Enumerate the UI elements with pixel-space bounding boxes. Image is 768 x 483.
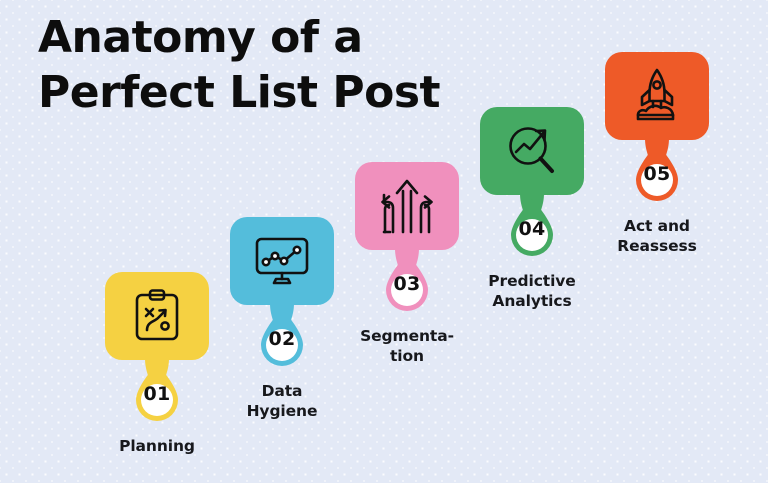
step-label-line: Reassess [582, 237, 732, 257]
page-title: Anatomy of a Perfect List Post [38, 10, 508, 121]
step-label-01: Planning [82, 437, 232, 457]
step-label-line: Analytics [457, 292, 607, 312]
step-label-04: Predictive Analytics [457, 272, 607, 312]
step-label-03: Segmenta- tion [332, 327, 482, 367]
step-label-05: Act and Reassess [582, 217, 732, 257]
step-number-05: 05 [582, 163, 732, 185]
step-label-line: Hygiene [207, 402, 357, 422]
step-label-line: Segmenta- [332, 327, 482, 347]
title-line-1: Anatomy of a [38, 10, 508, 65]
step-card-05[interactable] [605, 52, 709, 140]
step-card-03[interactable] [355, 162, 459, 250]
step-badge-05[interactable]: 05 [582, 142, 732, 208]
step-label-02: Data Hygiene [207, 382, 357, 422]
step-card-01[interactable] [105, 272, 209, 360]
step-label-line: Predictive [457, 272, 607, 292]
diverging-arrows-icon [380, 178, 434, 234]
magnifier-trend-icon [504, 124, 560, 178]
step-card-02[interactable] [230, 217, 334, 305]
title-line-2: Perfect List Post [38, 65, 508, 120]
step-label-line: Act and [582, 217, 732, 237]
step-label-line: tion [332, 347, 482, 367]
step-item-05[interactable]: 05 Act and Reassess [582, 52, 732, 257]
step-label-line: Data [207, 382, 357, 402]
step-label-line: Planning [82, 437, 232, 457]
monitor-analytics-icon [254, 236, 310, 286]
infographic-canvas: Anatomy of a Perfect List Post [0, 0, 768, 483]
clipboard-strategy-icon [132, 289, 182, 343]
rocket-launch-icon [630, 68, 684, 124]
